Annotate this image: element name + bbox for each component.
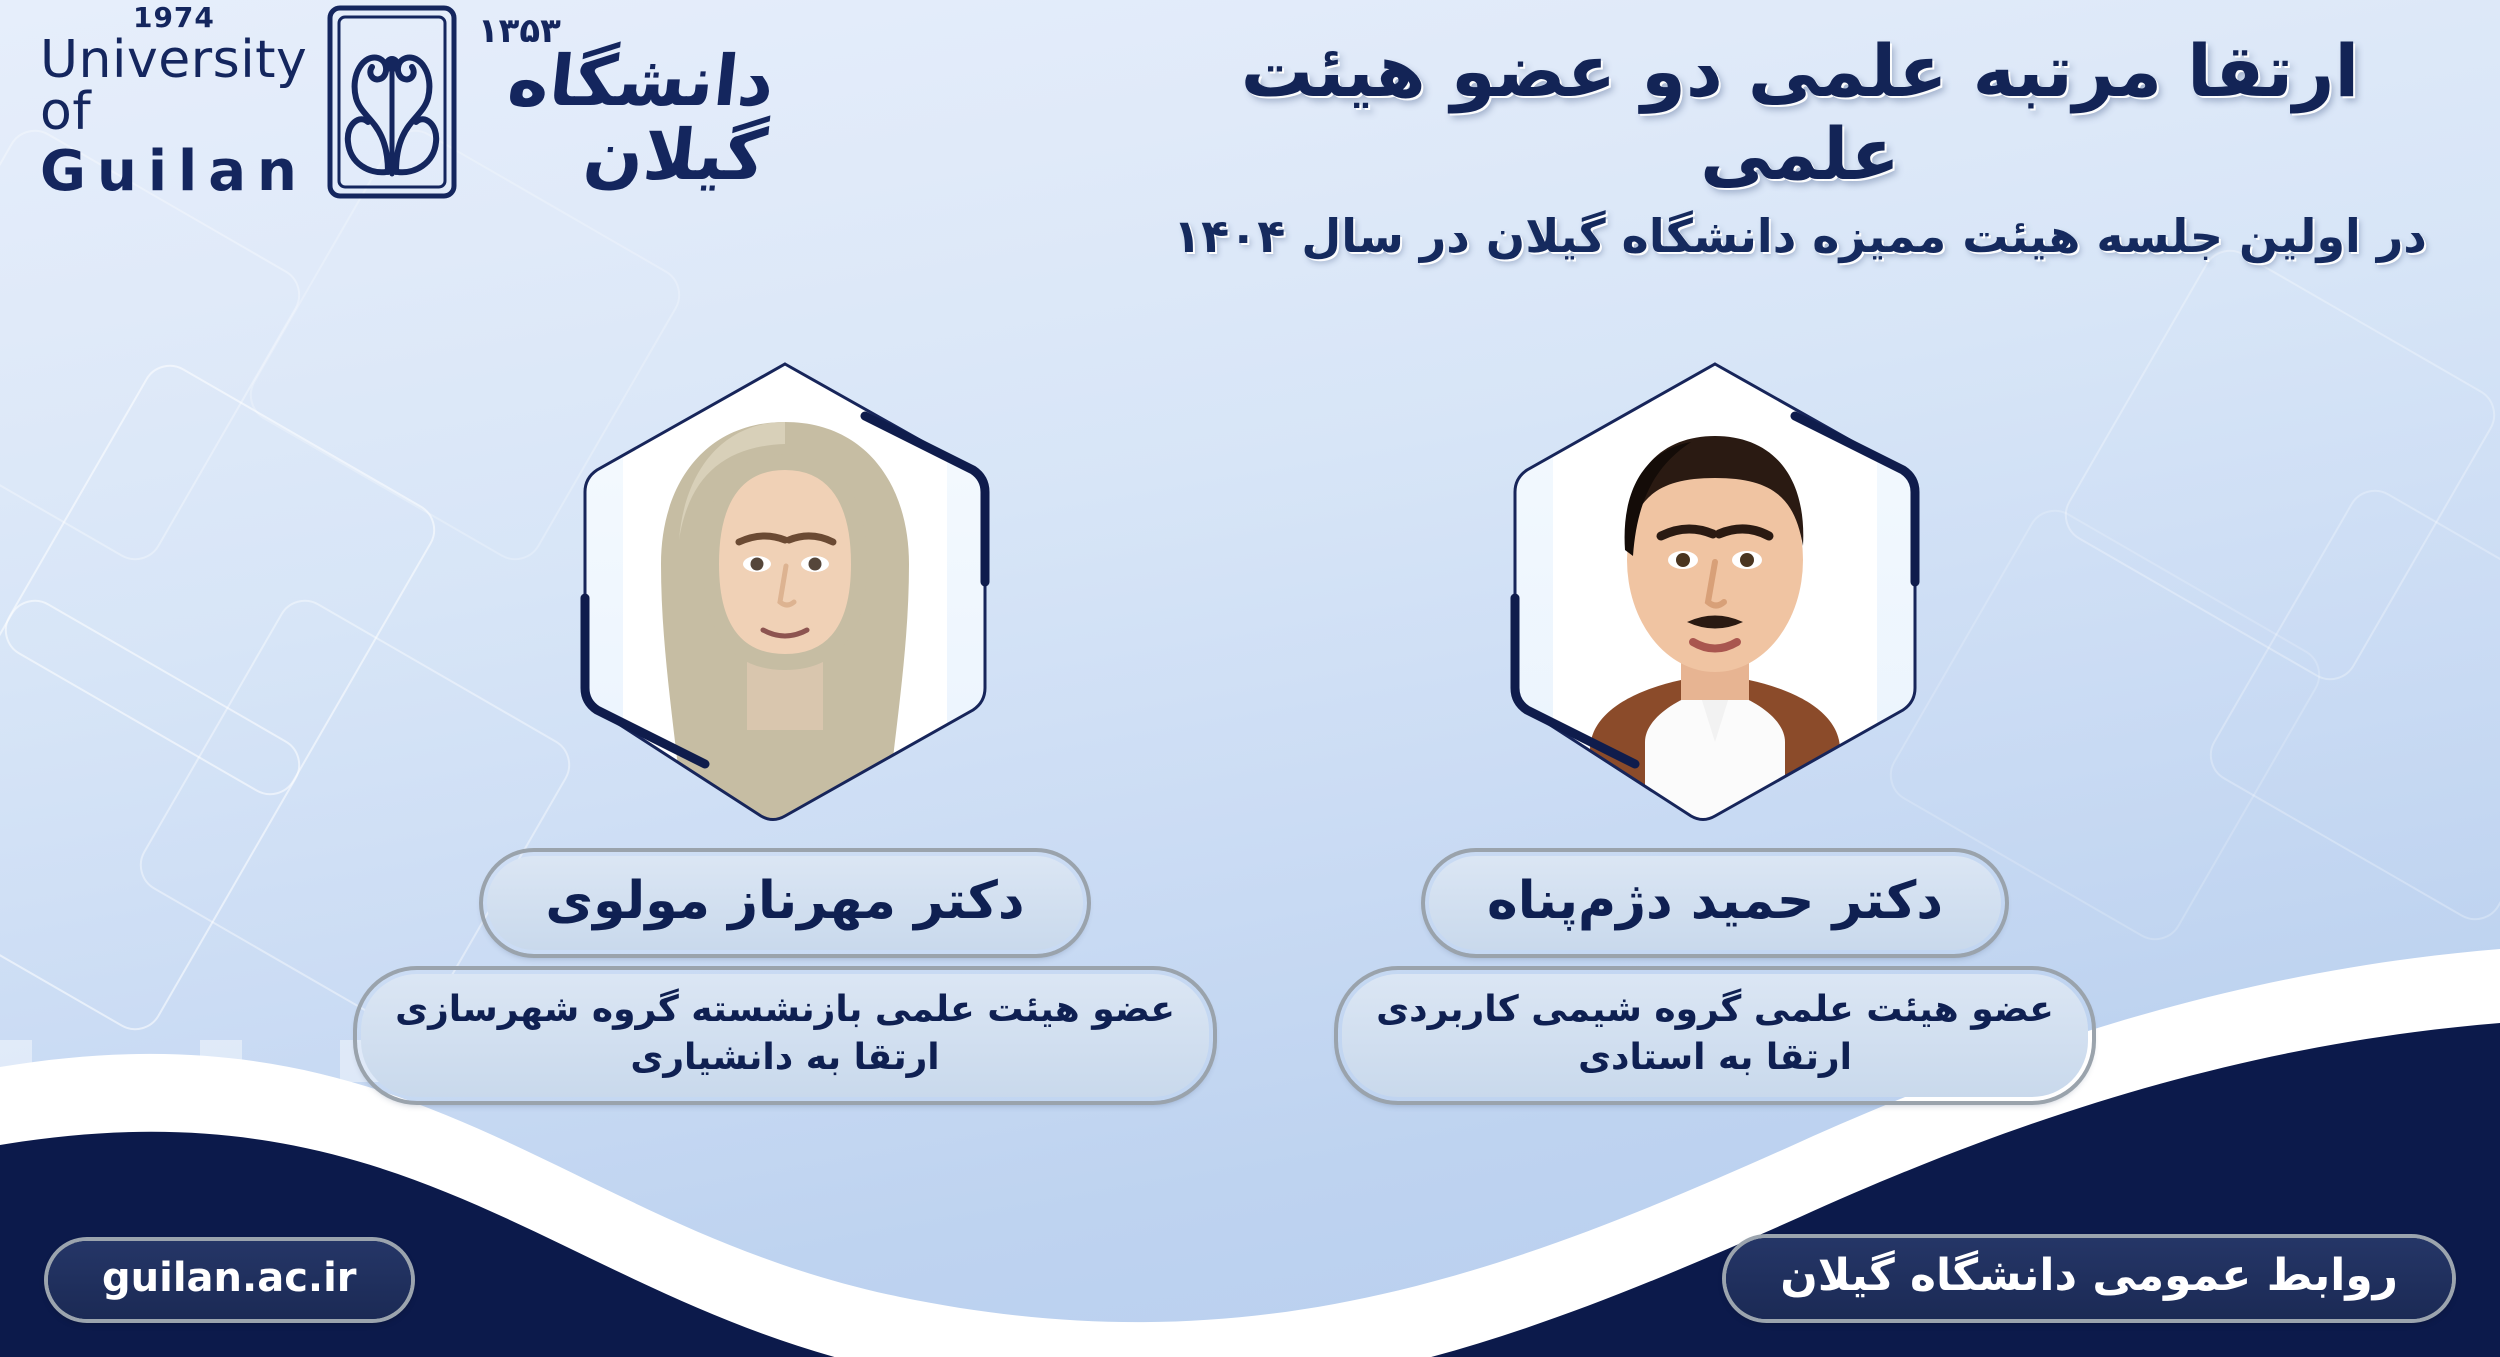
headline-block: ارتقا مرتبه علمی دو عضو هیئت علمی در اول… bbox=[1140, 30, 2460, 265]
avatar bbox=[565, 350, 1005, 830]
logo-english-text: 1974 University of Guilan bbox=[40, 4, 308, 200]
person-card: دکتر حمید دژم‌پناه عضو هیئت علمی گروه شی… bbox=[1395, 350, 2035, 1101]
person-role-line-1: عضو هیئت علمی گروه شیمی کاربردی bbox=[1376, 986, 2054, 1034]
logo-persian-text: ۱۳۵۳ دانشگاه گیلان bbox=[472, 11, 770, 192]
logo-name-fa: دانشگاه گیلان bbox=[464, 45, 778, 192]
guilan-butterfly-emblem-icon bbox=[322, 2, 462, 202]
logo-year-en: 1974 bbox=[133, 4, 215, 32]
website-badge[interactable]: guilan.ac.ir bbox=[48, 1241, 411, 1319]
university-logo: 1974 University of Guilan ۱۳۵۳ دانشگاه گ… bbox=[40, 14, 770, 189]
person-role-line-2: ارتقا به استادی bbox=[1376, 1034, 2054, 1082]
page-title: ارتقا مرتبه علمی دو عضو هیئت علمی bbox=[1140, 30, 2460, 196]
poster-canvas: 1974 University of Guilan ۱۳۵۳ دانشگاه گ… bbox=[0, 0, 2500, 1357]
person-role: عضو هیئت علمی گروه شیمی کاربردی ارتقا به… bbox=[1338, 970, 2092, 1101]
person-role-line-2: ارتقا به دانشیاری bbox=[395, 1034, 1175, 1082]
people-row: دکتر حمید دژم‌پناه عضو هیئت علمی گروه شی… bbox=[0, 350, 2500, 1101]
person-card: دکتر مهرناز مولوی عضو هیئت علمی بازنشسته… bbox=[465, 350, 1105, 1101]
public-relations-badge: روابط عمومی دانشگاه گیلان bbox=[1726, 1238, 2452, 1319]
avatar bbox=[1495, 350, 1935, 830]
person-name: دکتر مهرناز مولوی bbox=[483, 852, 1086, 954]
logo-name-en: Guilan bbox=[40, 144, 308, 200]
person-role: عضو هیئت علمی بازنشسته گروه شهرسازی ارتق… bbox=[357, 970, 1213, 1101]
person-role-line-1: عضو هیئت علمی بازنشسته گروه شهرسازی bbox=[395, 986, 1175, 1034]
logo-university-en: University of bbox=[40, 34, 308, 138]
person-name: دکتر حمید دژم‌پناه bbox=[1425, 852, 2005, 954]
page-subtitle: در اولین جلسه هیئت ممیزه دانشگاه گیلان د… bbox=[1140, 208, 2460, 266]
